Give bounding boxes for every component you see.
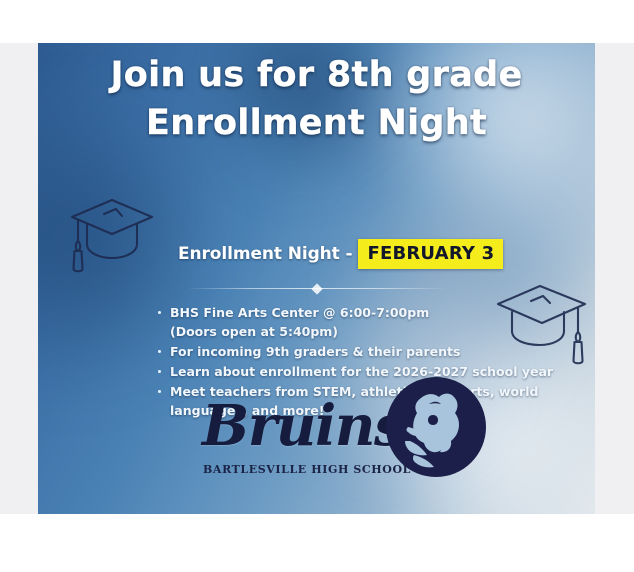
list-item-text: For incoming 9th graders & their parents — [170, 344, 460, 359]
list-item-text: BHS Fine Arts Center @ 6:00-7:00pm — [170, 305, 429, 320]
poster-content: Join us for 8th grade Enrollment Night — [38, 43, 595, 514]
page-root: Join us for 8th grade Enrollment Night — [0, 0, 634, 572]
page-gutter-left — [0, 43, 38, 514]
diamond-ornament-icon — [311, 283, 322, 294]
list-item-text: Learn about enrollment for the 2026-2027… — [170, 364, 553, 379]
list-item-subtext: (Doors open at 5:40pm) — [170, 322, 566, 341]
page-gutter-right — [595, 43, 634, 514]
date-row: Enrollment Night - FEBRUARY 3 — [178, 239, 503, 269]
list-item: For incoming 9th graders & their parents — [156, 342, 566, 361]
date-label: Enrollment Night - — [178, 244, 352, 264]
headline-line-2: Enrollment Night — [38, 99, 595, 147]
headline-line-1: Join us for 8th grade — [38, 51, 595, 99]
bear-mascot-icon — [380, 371, 492, 483]
poster-headline: Join us for 8th grade Enrollment Night — [38, 51, 595, 147]
graduation-cap-icon — [60, 183, 164, 292]
divider — [186, 284, 448, 294]
list-item: BHS Fine Arts Center @ 6:00-7:00pm (Door… — [156, 303, 566, 341]
bruins-logo: Bruins BARTLESVILLE HIGH SCHOOL — [188, 385, 488, 513]
date-badge: FEBRUARY 3 — [358, 239, 503, 269]
enrollment-night-poster: Join us for 8th grade Enrollment Night — [38, 43, 595, 514]
list-item: Learn about enrollment for the 2026-2027… — [156, 362, 566, 381]
